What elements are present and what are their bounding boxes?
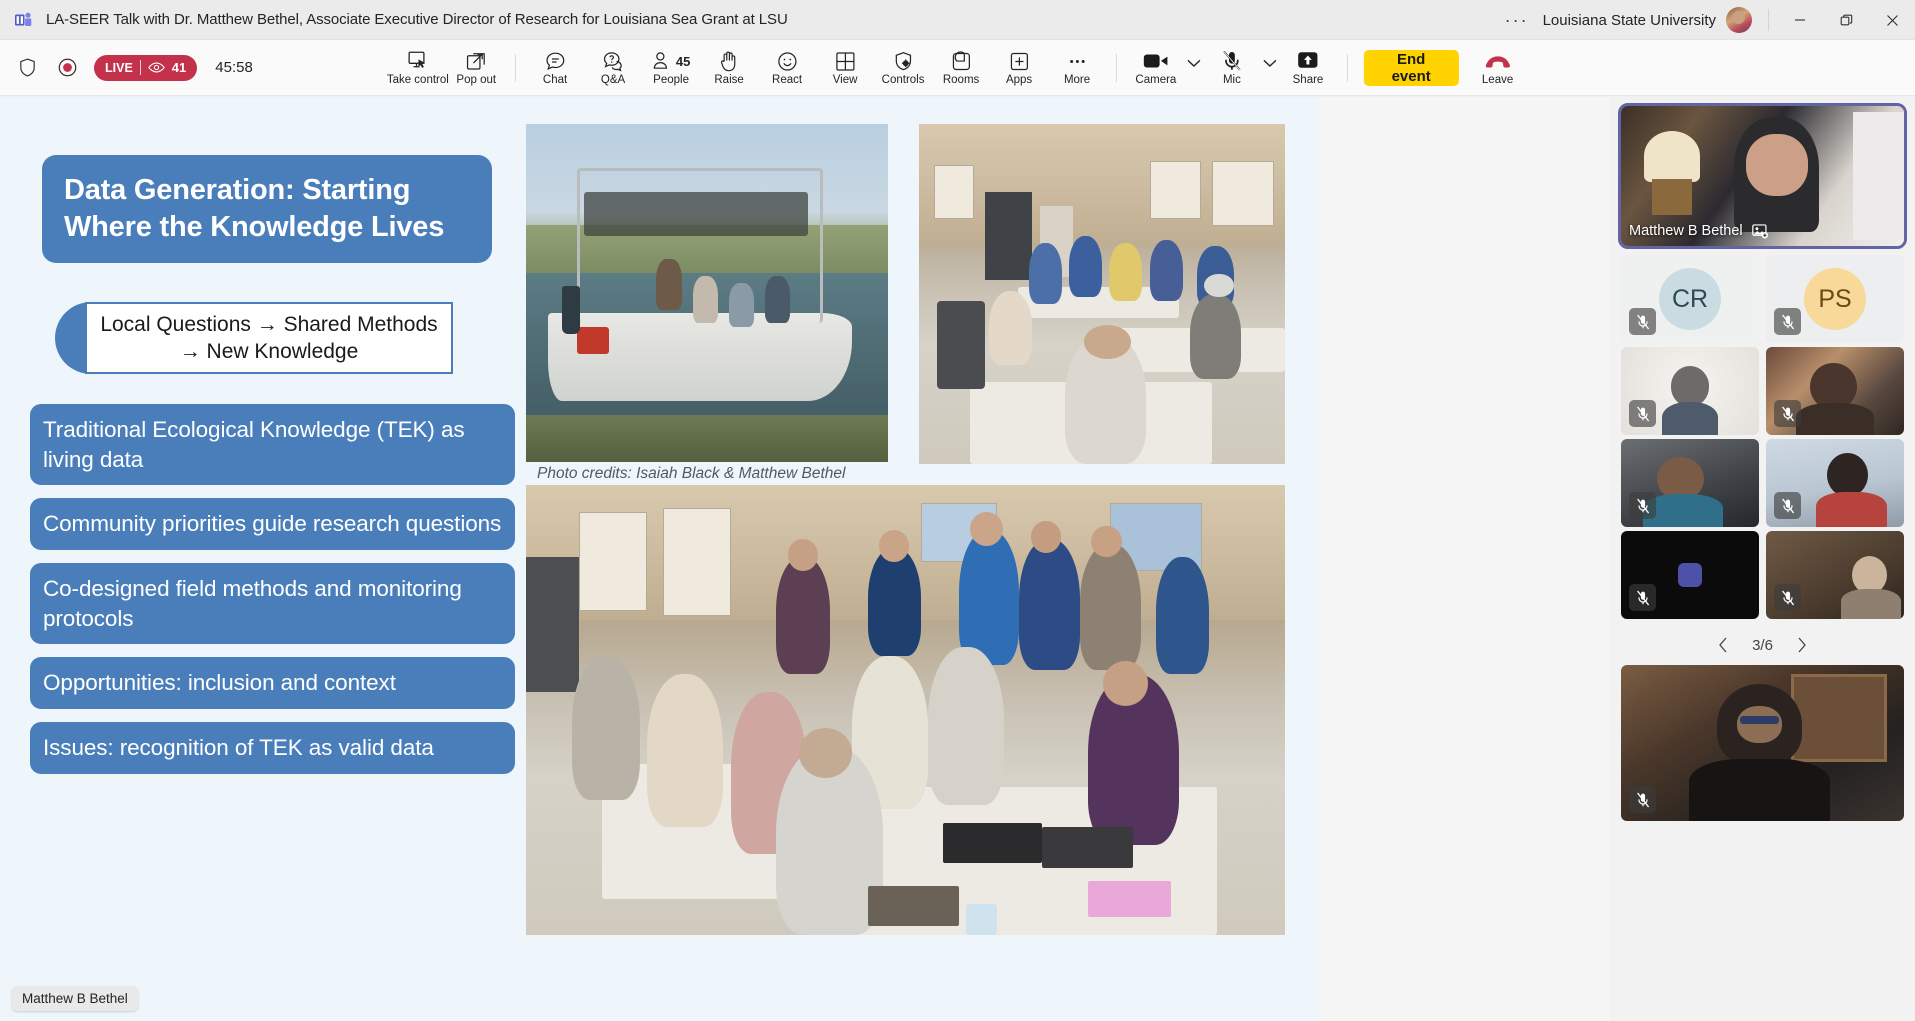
mic-chevron-down-icon[interactable]	[1261, 42, 1279, 94]
raise-hand-button[interactable]: Raise	[700, 42, 758, 94]
presenter-name-chip: Matthew B Bethel	[12, 986, 138, 1011]
pop-out-icon	[465, 49, 488, 73]
chat-button[interactable]: Chat	[526, 42, 584, 94]
meeting-timer: 45:58	[215, 59, 253, 76]
presentation-slide: Data Generation: Starting Where the Know…	[0, 97, 1320, 1021]
chevron-right-icon[interactable]	[1789, 632, 1815, 658]
share-label: Share	[1293, 74, 1324, 86]
breakout-rooms-icon	[950, 49, 973, 73]
avatar[interactable]	[1726, 7, 1752, 33]
take-control-label: Take control	[387, 74, 449, 86]
teams-logo-icon	[14, 10, 34, 30]
raise-hand-icon	[718, 49, 740, 73]
divider	[1347, 54, 1348, 82]
shared-content-area[interactable]: Data Generation: Starting Where the Know…	[0, 97, 1610, 1021]
camera-on-icon	[1143, 49, 1169, 73]
meeting-toolbar: LIVE 41 45:58 Take control	[0, 40, 1915, 96]
participant-tile-6[interactable]	[1621, 439, 1759, 527]
close-button[interactable]	[1869, 0, 1915, 40]
apps-plus-icon	[1008, 49, 1031, 73]
mic-muted-icon	[1774, 400, 1801, 427]
mic-muted-icon	[1774, 308, 1801, 335]
more-label: More	[1064, 74, 1090, 86]
live-label: LIVE	[105, 61, 133, 75]
meeting-stage: Data Generation: Starting Where the Know…	[0, 97, 1915, 1021]
share-screen-icon	[1296, 49, 1320, 73]
more-button[interactable]: More	[1048, 42, 1106, 94]
live-badge: LIVE 41	[94, 55, 197, 81]
controls-shield-icon	[892, 49, 915, 73]
share-button[interactable]: Share	[1279, 42, 1337, 94]
people-label: People	[653, 74, 689, 86]
presenting-pin-icon	[1752, 224, 1769, 239]
react-button[interactable]: React	[758, 42, 816, 94]
window-more-options-button[interactable]: ···	[1491, 11, 1543, 29]
people-icon: 45	[652, 49, 690, 73]
attendee-eye-icon	[148, 61, 165, 74]
title-bar: LA-SEER Talk with Dr. Matthew Bethel, As…	[0, 0, 1915, 40]
mic-muted-icon	[1629, 492, 1656, 519]
participant-tile-9[interactable]	[1766, 531, 1904, 619]
minimize-button[interactable]	[1777, 0, 1823, 40]
page-indicator: 3/6	[1752, 637, 1773, 654]
camera-button[interactable]: Camera	[1127, 42, 1185, 94]
shield-icon[interactable]	[14, 55, 40, 81]
qa-icon	[602, 49, 625, 73]
mic-muted-icon	[1221, 49, 1243, 73]
organization-label: Louisiana State University	[1543, 12, 1726, 29]
participant-rail: Matthew B Bethel CR P	[1610, 97, 1915, 1021]
avatar: CR	[1659, 268, 1721, 330]
pop-out-button[interactable]: Pop out	[447, 42, 505, 94]
divider	[1116, 54, 1117, 82]
view-label: View	[833, 74, 858, 86]
participant-name-label: Matthew B Bethel	[1629, 223, 1769, 239]
view-button[interactable]: View	[816, 42, 874, 94]
react-icon	[776, 49, 799, 73]
take-control-button[interactable]: Take control	[388, 42, 447, 94]
mic-muted-icon	[1774, 492, 1801, 519]
chat-icon	[544, 49, 567, 73]
people-count-badge: 45	[676, 54, 690, 69]
participant-tile-4[interactable]	[1621, 347, 1759, 435]
mic-muted-icon	[1629, 584, 1656, 611]
raise-label: Raise	[714, 74, 743, 86]
qa-button[interactable]: Q&A	[584, 42, 642, 94]
apps-button[interactable]: Apps	[990, 42, 1048, 94]
apps-label: Apps	[1006, 74, 1032, 86]
chevron-left-icon[interactable]	[1710, 632, 1736, 658]
end-event-button[interactable]: End event	[1364, 50, 1459, 86]
camera-label: Camera	[1135, 74, 1176, 86]
camera-chevron-down-icon[interactable]	[1185, 42, 1203, 94]
photo-credits: Photo credits: Isaiah Black & Matthew Be…	[537, 465, 845, 483]
divider	[140, 60, 141, 75]
list-item: Traditional Ecological Knowledge (TEK) a…	[30, 404, 515, 485]
divider	[1768, 9, 1769, 31]
mic-muted-icon	[1629, 786, 1656, 813]
slide-subtitle-group: Local Questions → Shared Methods → New K…	[55, 302, 453, 374]
participant-tile-cr[interactable]: CR	[1621, 255, 1759, 343]
chat-label: Chat	[543, 74, 567, 86]
participant-tile-10[interactable]	[1621, 665, 1904, 821]
list-item: Opportunities: inclusion and context	[30, 657, 515, 709]
list-item: Co-designed field methods and monitoring…	[30, 563, 515, 644]
leave-button[interactable]: Leave	[1469, 42, 1527, 94]
participant-tile-active-speaker[interactable]: Matthew B Bethel	[1621, 106, 1904, 246]
toolbar-center-actions: Take control Pop out Chat	[388, 40, 1526, 96]
slide-title: Data Generation: Starting Where the Know…	[42, 155, 492, 263]
record-icon[interactable]	[54, 55, 80, 81]
window-title: LA-SEER Talk with Dr. Matthew Bethel, As…	[46, 11, 788, 28]
slide-photo-workshop-room	[919, 124, 1285, 464]
restore-button[interactable]	[1823, 0, 1869, 40]
mic-button[interactable]: Mic	[1203, 42, 1261, 94]
qa-label: Q&A	[601, 74, 625, 86]
take-control-icon	[406, 49, 430, 73]
slide-photo-boat	[526, 124, 888, 462]
more-ellipsis-icon	[1066, 49, 1089, 73]
list-item: Community priorities guide research ques…	[30, 498, 515, 550]
slide-subtitle: Local Questions → Shared Methods → New K…	[85, 302, 453, 374]
participant-tile-7[interactable]	[1766, 439, 1904, 527]
slide-photo-group-workshop	[526, 485, 1285, 935]
rooms-label: Rooms	[943, 74, 979, 86]
controls-label: Controls	[882, 74, 925, 86]
leave-label: Leave	[1482, 74, 1513, 86]
hangup-icon	[1484, 49, 1512, 73]
list-item: Issues: recognition of TEK as valid data	[30, 722, 515, 774]
react-label: React	[772, 74, 802, 86]
mic-muted-icon	[1629, 308, 1656, 335]
participant-tile-8[interactable]	[1621, 531, 1759, 619]
viewer-count: 41	[172, 60, 186, 75]
view-grid-icon	[834, 49, 857, 73]
mic-muted-icon	[1774, 584, 1801, 611]
divider	[515, 54, 516, 82]
rooms-button[interactable]: Rooms	[932, 42, 990, 94]
avatar: PS	[1804, 268, 1866, 330]
mic-muted-icon	[1629, 400, 1656, 427]
roster-pagination: 3/6	[1610, 632, 1915, 658]
mic-label: Mic	[1223, 74, 1241, 86]
participant-tile-5[interactable]	[1766, 347, 1904, 435]
controls-button[interactable]: Controls	[874, 42, 932, 94]
slide-bullet-list: Traditional Ecological Knowledge (TEK) a…	[30, 404, 515, 774]
pop-out-label: Pop out	[456, 74, 496, 86]
participant-tile-ps[interactable]: PS	[1766, 255, 1904, 343]
people-button[interactable]: 45 People	[642, 42, 700, 94]
